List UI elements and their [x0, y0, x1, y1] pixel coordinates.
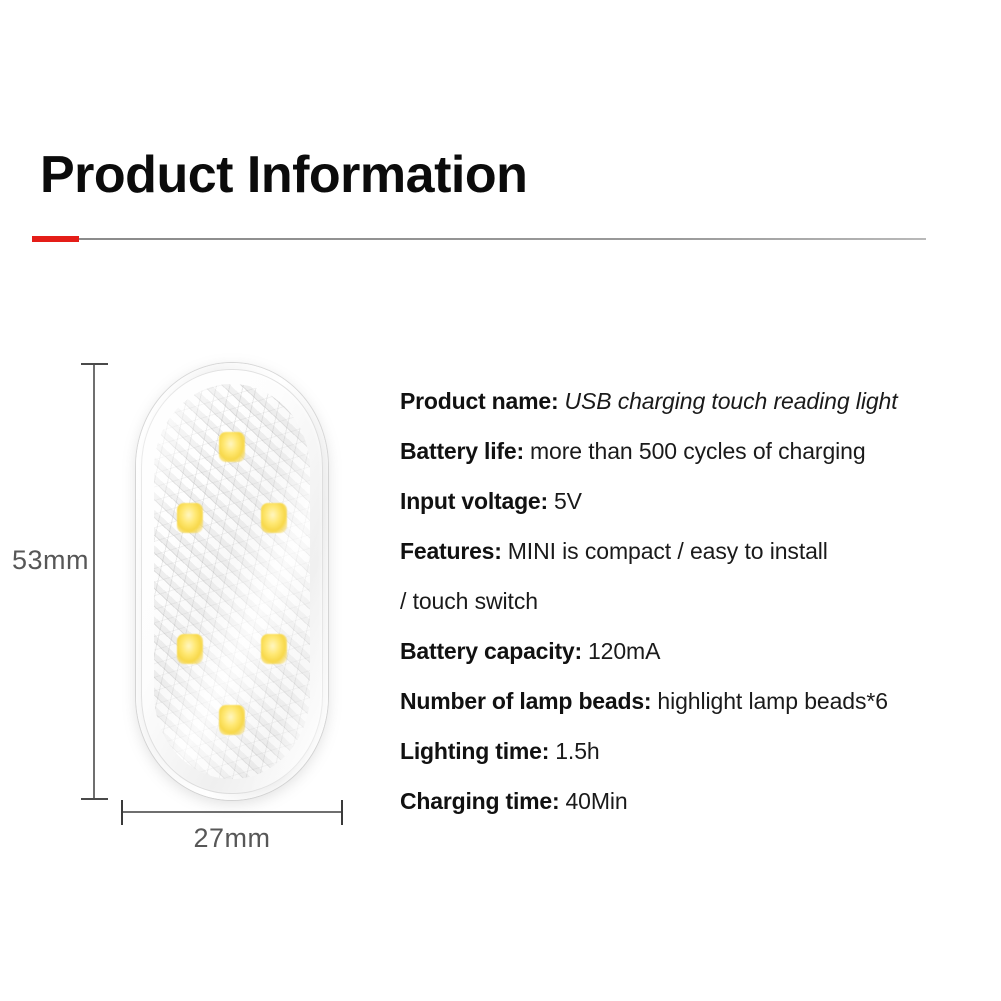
- spec-row: Input voltage:5V: [400, 476, 960, 526]
- spec-label: Battery capacity:: [400, 638, 582, 665]
- spec-label: Charging time:: [400, 788, 559, 815]
- led-bead: [219, 705, 245, 735]
- height-dimension-label: 53mm: [12, 545, 104, 576]
- spec-value: 40Min: [565, 788, 627, 815]
- divider-gray-segment: [78, 238, 926, 240]
- spec-row: / touch switch: [400, 576, 960, 626]
- led-bead: [261, 503, 287, 533]
- spec-value: highlight lamp beads*6: [657, 688, 888, 715]
- spec-label: Product name:: [400, 388, 558, 415]
- page-title: Product Information: [40, 148, 527, 203]
- spec-row: Charging time:40Min: [400, 776, 960, 826]
- width-dimension-line: [121, 811, 343, 813]
- spec-label: Features:: [400, 538, 502, 565]
- product-figure: 53mm 27mm: [60, 355, 370, 835]
- led-bead: [177, 634, 203, 664]
- width-dimension-label: 27mm: [121, 823, 343, 854]
- spec-value: 5V: [554, 488, 582, 515]
- divider-red-accent: [32, 236, 79, 242]
- spec-label: Battery life:: [400, 438, 524, 465]
- spec-row: Lighting time:1.5h: [400, 726, 960, 776]
- title-divider: [32, 236, 926, 242]
- spec-row: Features:MINI is compact / easy to insta…: [400, 526, 960, 576]
- lamp-bezel: [141, 369, 323, 794]
- spec-value: / touch switch: [400, 588, 538, 615]
- led-bead: [177, 503, 203, 533]
- spec-value: MINI is compact / easy to install: [508, 538, 828, 565]
- spec-row: Battery capacity:120mA: [400, 626, 960, 676]
- spec-label: Number of lamp beads:: [400, 688, 651, 715]
- spec-label: Lighting time:: [400, 738, 549, 765]
- spec-value: USB charging touch reading light: [564, 388, 897, 415]
- spec-value: more than 500 cycles of charging: [530, 438, 866, 465]
- spec-row: Product name:USB charging touch reading …: [400, 376, 960, 426]
- led-bead: [261, 634, 287, 664]
- spec-label: Input voltage:: [400, 488, 548, 515]
- led-bead: [219, 432, 245, 462]
- spec-row: Battery life:more than 500 cycles of cha…: [400, 426, 960, 476]
- height-dimension-line: [93, 363, 95, 800]
- spec-value: 1.5h: [555, 738, 599, 765]
- specification-list: Product name:USB charging touch reading …: [400, 376, 960, 826]
- spec-row: Number of lamp beads:highlight lamp bead…: [400, 676, 960, 726]
- spec-value: 120mA: [588, 638, 660, 665]
- product-image-reading-light: [136, 363, 328, 800]
- lamp-diffuser-panel: [154, 384, 310, 779]
- product-information-page: Product Information 53mm: [0, 0, 1001, 1001]
